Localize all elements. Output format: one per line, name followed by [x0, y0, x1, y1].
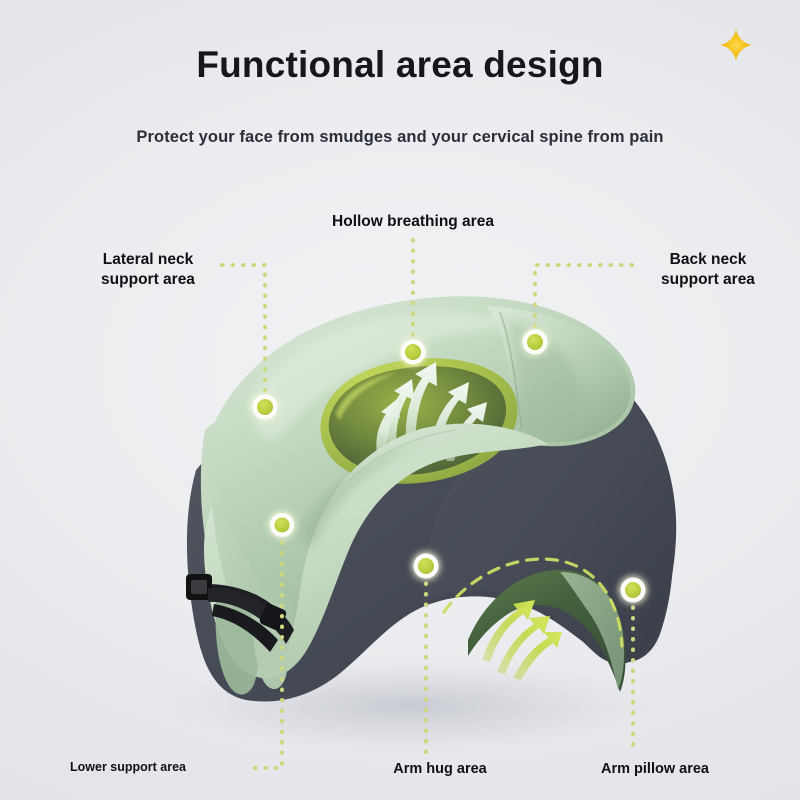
- marker-arm-pillow: [619, 576, 647, 604]
- callout-label-hollow-breathing: Hollow breathing area: [318, 212, 508, 232]
- callout-label-lateral-neck-support: Lateral neck support area: [78, 250, 218, 289]
- marker-lower-support: [269, 512, 296, 539]
- marker-lateral-neck-support: [252, 394, 279, 421]
- marker-arm-hug: [412, 552, 440, 580]
- marker-hollow-breathing: [400, 339, 427, 366]
- page-subtitle: Protect your face from smudges and your …: [0, 128, 800, 147]
- callout-label-back-neck-support: Back neck support area: [638, 250, 778, 289]
- marker-back-neck-support: [522, 329, 549, 356]
- callout-label-arm-hug: Arm hug area: [360, 760, 520, 778]
- callout-label-lower-support: Lower support area: [70, 760, 240, 776]
- callout-label-arm-pillow: Arm pillow area: [570, 760, 740, 778]
- infographic-canvas: Functional area design Protect your face…: [0, 0, 800, 800]
- product-illustration: [0, 0, 800, 800]
- page-title: Functional area design: [0, 44, 800, 86]
